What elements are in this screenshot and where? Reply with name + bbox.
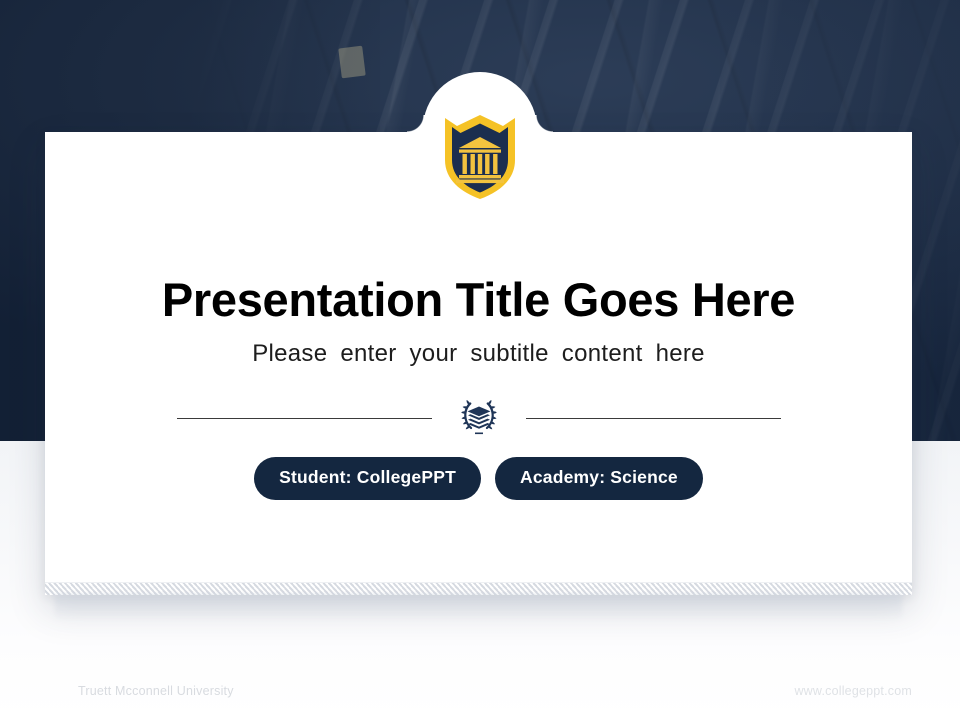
decorative-divider: [45, 395, 912, 441]
page-subtitle: Please enter your subtitle content here: [45, 340, 912, 368]
academy-badge[interactable]: Academy: Science: [495, 457, 703, 500]
footer-website-url[interactable]: www.collegeppt.com: [794, 684, 912, 698]
metadata-badges: Student: CollegePPT Academy: Science: [45, 457, 912, 500]
divider-line-left: [177, 418, 432, 419]
laurel-graduation-cap-icon: [456, 395, 502, 441]
page-title: Presentation Title Goes Here: [45, 275, 912, 324]
card-content: Presentation Title Goes Here Please ente…: [45, 132, 912, 594]
title-card-under-shadow: [55, 594, 902, 620]
student-badge[interactable]: Student: CollegePPT: [254, 457, 481, 500]
footer-university-name: Truett Mcconnell University: [78, 684, 234, 698]
presentation-slide: Presentation Title Goes Here Please ente…: [0, 0, 960, 720]
divider-line-right: [526, 418, 781, 419]
